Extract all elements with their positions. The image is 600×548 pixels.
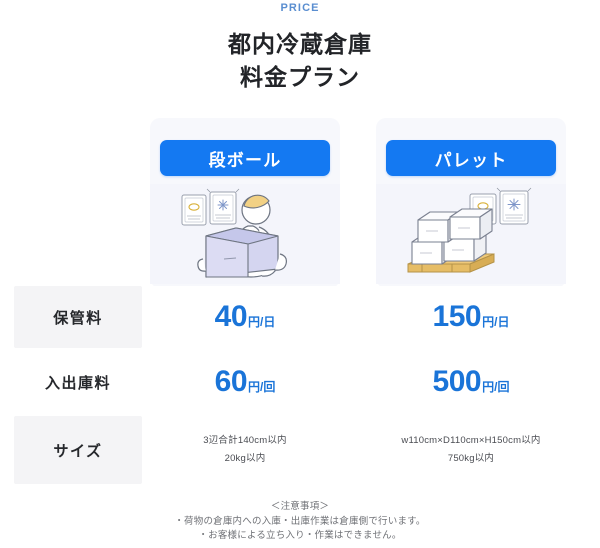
illustration-pallet	[376, 184, 566, 284]
size-line-2: 20kg以内	[225, 450, 266, 468]
price-plan-page: PRICE 都内冷蔵倉庫 料金プラン 段ボール パレット	[0, 0, 600, 548]
price-storage-pallet: 150 円/日	[433, 302, 510, 332]
price-value: 60	[215, 367, 247, 397]
plan-header-pallet[interactable]: パレット	[386, 140, 556, 176]
table-row-size: サイズ 3辺合計140cm以内 20kg以内 w110cm×D110cm×H15…	[0, 416, 600, 484]
price-value: 500	[433, 367, 482, 397]
size-line-2: 750kg以内	[448, 450, 494, 468]
price-unit: 円/回	[482, 381, 509, 393]
plan-header-pallet-label: パレット	[435, 146, 508, 171]
price-unit: 円/回	[248, 381, 275, 393]
section-eyebrow: PRICE	[0, 2, 600, 14]
cell-size-pallet: w110cm×D110cm×H150cm以内 750kg以内	[376, 416, 566, 484]
plan-header-cardboard[interactable]: 段ボール	[160, 140, 330, 176]
price-value: 150	[433, 302, 482, 332]
page-title: 都内冷蔵倉庫 料金プラン	[0, 28, 600, 93]
notes-line-2: ・お客様による立ち入り・作業はできません。	[0, 529, 600, 544]
row-label-size: サイズ	[14, 416, 142, 484]
size-line-1: w110cm×D110cm×H150cm以内	[401, 432, 540, 450]
price-handling-cardboard: 60 円/回	[215, 367, 276, 397]
row-label-handling-fee: 入出庫料	[14, 351, 142, 413]
notes-heading: ＜注意事項＞	[0, 500, 600, 515]
boxes-on-wooden-pallet-icon	[396, 186, 546, 282]
notes-line-1: ・荷物の倉庫内への入庫・出庫作業は倉庫側で行います。	[0, 515, 600, 530]
cell-storage-fee-pallet: 150 円/日	[376, 286, 566, 348]
cell-storage-fee-cardboard: 40 円/日	[150, 286, 340, 348]
price-handling-pallet: 500 円/回	[433, 367, 510, 397]
size-line-1: 3辺合計140cm以内	[203, 432, 287, 450]
table-row-storage-fee: 保管料 40 円/日 150 円/日	[0, 286, 600, 348]
price-storage-cardboard: 40 円/日	[215, 302, 276, 332]
price-unit: 円/日	[248, 316, 275, 328]
person-carrying-cardboard-box-icon	[170, 186, 320, 282]
notes-section: ＜注意事項＞ ・荷物の倉庫内への入庫・出庫作業は倉庫側で行います。 ・お客様によ…	[0, 500, 600, 544]
cell-handling-fee-cardboard: 60 円/回	[150, 351, 340, 413]
table-row-handling-fee: 入出庫料 60 円/回 500 円/回	[0, 351, 600, 413]
cell-handling-fee-pallet: 500 円/回	[376, 351, 566, 413]
illustration-cardboard	[150, 184, 340, 284]
page-title-line-2: 料金プラン	[0, 61, 600, 94]
row-label-storage-fee: 保管料	[14, 286, 142, 348]
page-title-line-1: 都内冷蔵倉庫	[0, 28, 600, 61]
price-unit: 円/日	[482, 316, 509, 328]
plan-header-cardboard-label: 段ボール	[209, 146, 282, 171]
price-value: 40	[215, 302, 247, 332]
pricing-grid: 段ボール パレット	[0, 118, 600, 488]
cell-size-cardboard: 3辺合計140cm以内 20kg以内	[150, 416, 340, 484]
